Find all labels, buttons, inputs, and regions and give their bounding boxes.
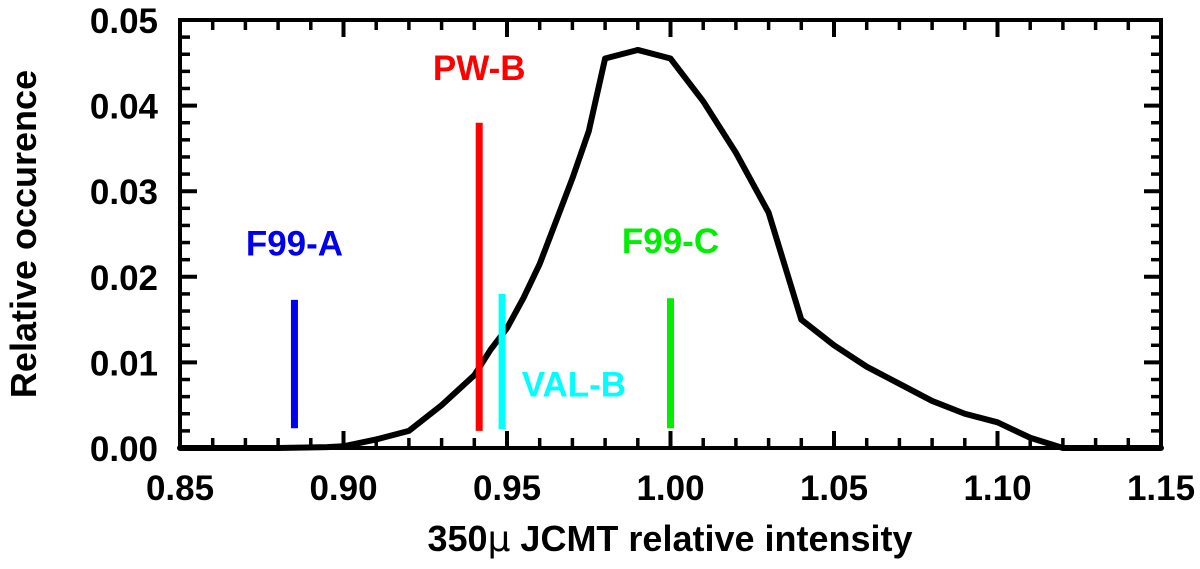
x-tick-label: 0.95 [473, 469, 541, 508]
x-axis-title-prefix: 350 [427, 518, 487, 559]
y-tick-label: 0.03 [90, 173, 158, 212]
x-tick-label: 0.85 [146, 469, 214, 508]
x-tick-label: 1.15 [1127, 469, 1195, 508]
reference-marker-label-pw-b: PW-B [433, 49, 526, 88]
histogram-chart: 0.850.900.951.001.051.101.150.000.010.02… [0, 0, 1200, 569]
reference-markers-layer: F99-APW-BVAL-BF99-C [246, 49, 719, 431]
x-axis-title: 350μ JCMT relative intensity [427, 518, 912, 560]
y-tick-label: 0.05 [90, 2, 158, 41]
y-tick-label: 0.02 [90, 259, 158, 298]
x-tick-label: 1.05 [800, 469, 868, 508]
x-tick-label: 0.90 [309, 469, 377, 508]
y-axis-title: Relative occurence [3, 70, 44, 398]
y-tick-label: 0.00 [90, 430, 158, 469]
chart-page: 0.850.900.951.001.051.101.150.000.010.02… [0, 0, 1200, 569]
reference-marker-label-f99-c: F99-C [622, 222, 719, 261]
reference-marker-label-val-b: VAL-B [522, 366, 626, 405]
y-tick-label: 0.01 [90, 344, 158, 383]
x-axis-title-mu-symbol: μ [488, 519, 511, 560]
reference-marker-label-f99-a: F99-A [246, 224, 343, 263]
y-tick-label: 0.04 [90, 88, 159, 127]
x-axis-title-suffix: JCMT relative intensity [510, 518, 912, 559]
x-tick-label: 1.10 [963, 469, 1031, 508]
x-tick-label: 1.00 [636, 469, 704, 508]
